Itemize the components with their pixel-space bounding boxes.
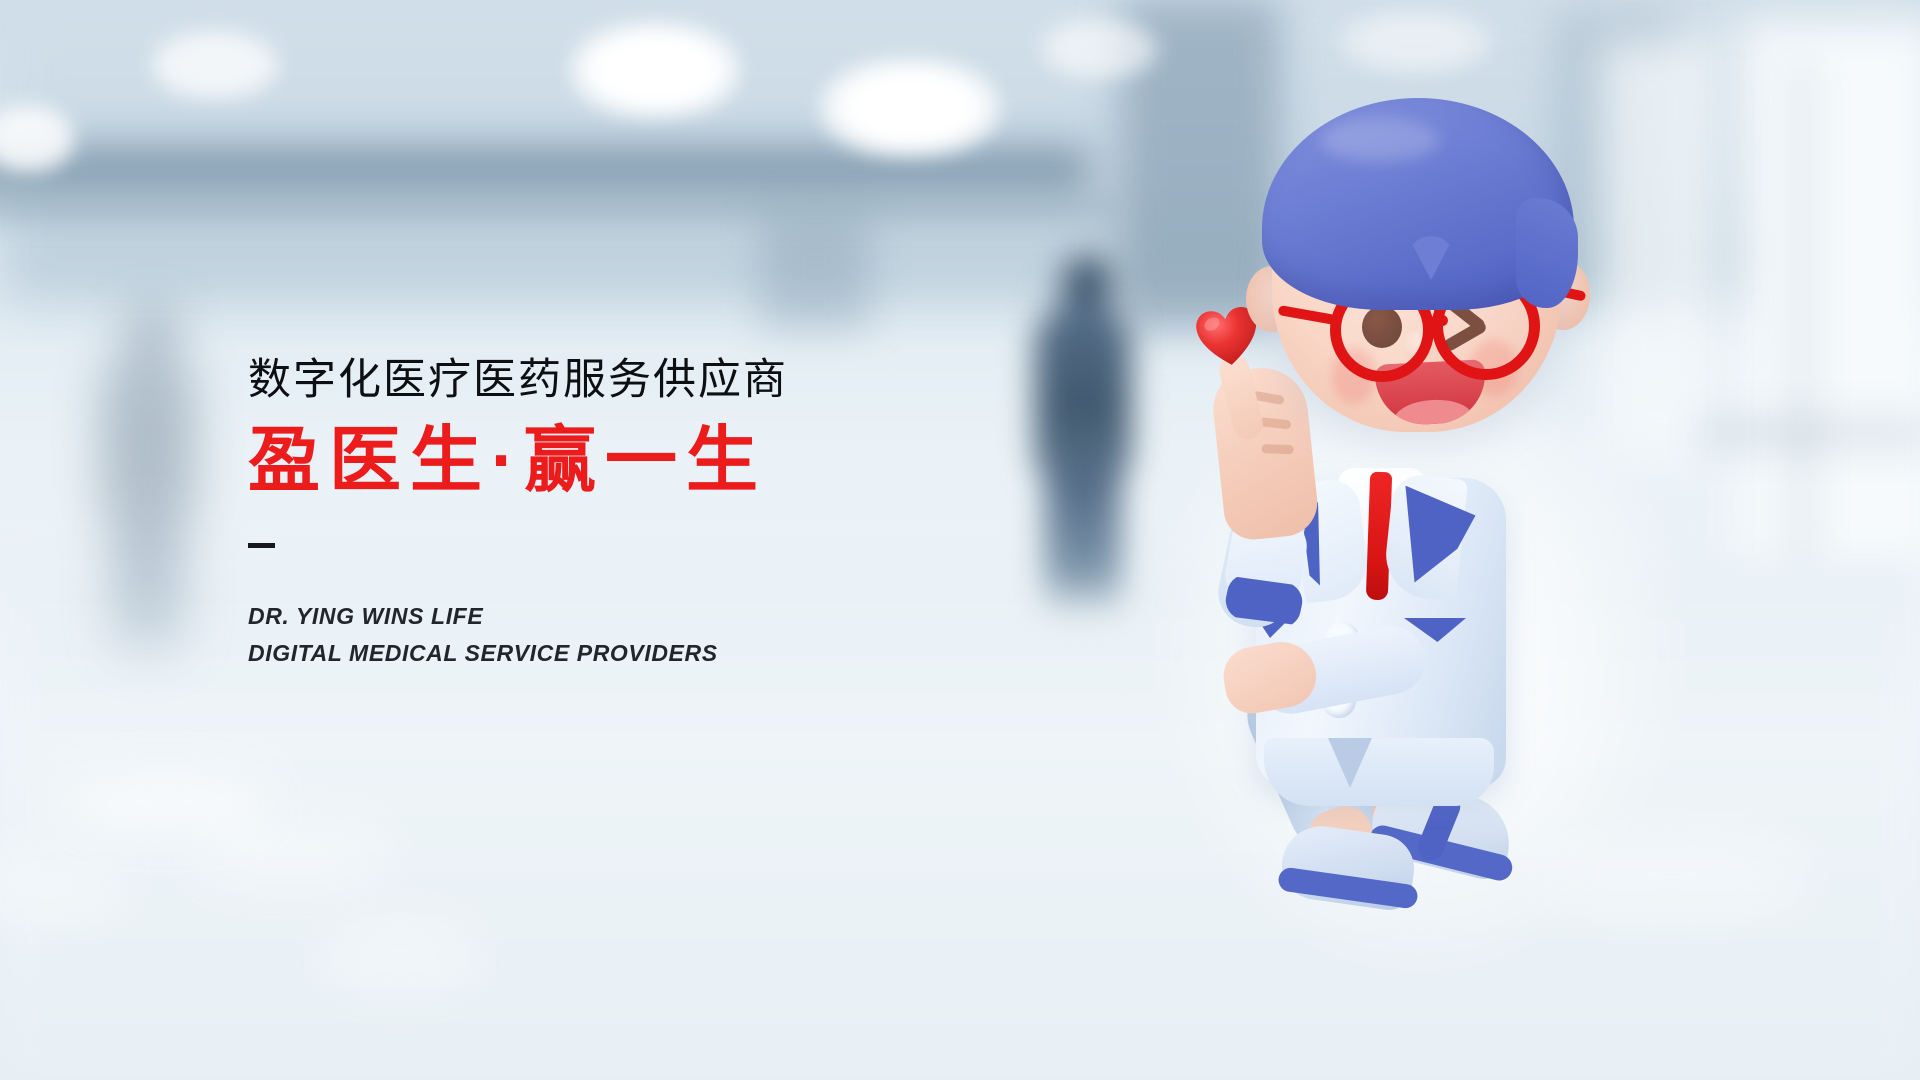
background-window-right [1740,20,1920,580]
banner-subheadline: 数字化医疗医药服务供应商 [248,356,1008,404]
background-ceiling-light [570,22,740,118]
banner-subcopy-line-1: DR. YING WINS LIFE [248,598,1008,634]
background-ceiling-light [150,30,280,100]
banner-copy-block: 数字化医疗医药服务供应商 盈医生·赢一生 DR. YING WINS LIFE … [248,356,1008,671]
background-person-silhouette-far [100,350,180,610]
floor-reflection [200,830,380,878]
banner-divider [248,543,275,548]
background-person-silhouette [1035,300,1135,630]
mascot-coat-hem [1264,738,1494,806]
doctor-mascot-illustration [1220,48,1640,1048]
banner-headline: 盈医生·赢一生 [248,422,1008,501]
mascot-hair-highlight [1320,118,1440,162]
background-ceiling-beam-secondary [0,196,1120,220]
floor-reflection [60,772,270,832]
background-fixture-shadow [760,210,870,330]
mascot-hair-side [1516,198,1578,308]
floor-reflection [330,930,470,986]
hero-banner: 数字化医疗医药服务供应商 盈医生·赢一生 DR. YING WINS LIFE … [0,0,1920,1080]
background-ceiling-light [1040,18,1160,80]
banner-subcopy: DR. YING WINS LIFE DIGITAL MEDICAL SERVI… [248,598,1008,671]
background-ceiling-light [820,58,1000,158]
floor-reflection [0,860,120,910]
banner-subcopy-line-2: DIGITAL MEDICAL SERVICE PROVIDERS [248,635,1008,671]
background-window-mullion-v [1790,60,1812,580]
